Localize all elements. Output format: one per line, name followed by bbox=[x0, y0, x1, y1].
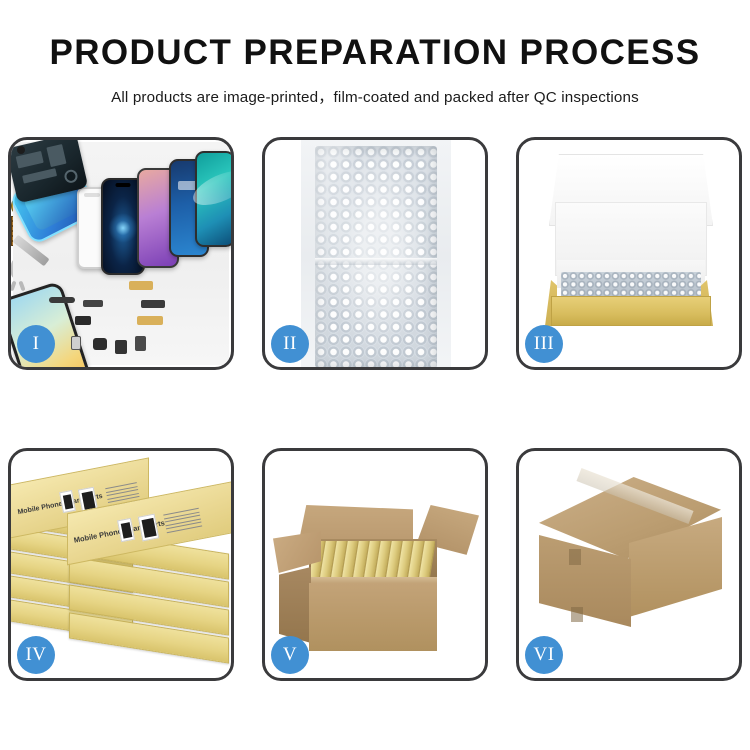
phone-teal-icon bbox=[195, 151, 231, 247]
flex-cable-3-icon bbox=[137, 316, 163, 325]
process-step-panel-4: Mobile Phone Spare Parts Mobile Phone Sp… bbox=[8, 448, 234, 681]
small-part-6-icon bbox=[83, 300, 103, 307]
small-part-2-icon bbox=[71, 336, 81, 350]
page-subtitle: All products are image-printed，film-coat… bbox=[0, 85, 750, 107]
small-part-3-icon bbox=[93, 338, 107, 350]
process-step-panel-3: III bbox=[516, 137, 742, 370]
step-badge-2: II bbox=[271, 325, 309, 363]
small-part-5-icon bbox=[135, 336, 146, 351]
carton-front-panel bbox=[309, 583, 437, 651]
carton-handle-top bbox=[569, 549, 581, 565]
battery-strip-icon bbox=[49, 297, 75, 303]
bubble-pattern-icon bbox=[315, 146, 437, 367]
header: PRODUCT PREPARATION PROCESS All products… bbox=[0, 0, 750, 107]
process-step-grid: I II III bbox=[8, 137, 742, 681]
step-badge-5: V bbox=[271, 636, 309, 674]
step-badge-1: I bbox=[17, 325, 55, 363]
flex-cable-2-icon bbox=[141, 300, 165, 308]
process-step-panel-5: V bbox=[262, 448, 488, 681]
page-title: PRODUCT PREPARATION PROCESS bbox=[0, 34, 750, 73]
flex-cable-1-icon bbox=[129, 281, 153, 290]
process-step-panel-2: II bbox=[262, 137, 488, 370]
carton-handle-bottom bbox=[571, 607, 583, 622]
carton-side-panel bbox=[279, 567, 311, 643]
process-step-panel-6: VI bbox=[516, 448, 742, 681]
process-step-panel-1: I bbox=[8, 137, 234, 370]
small-part-1-icon bbox=[75, 316, 91, 325]
wrap-seam bbox=[315, 258, 437, 265]
product-preparation-infographic: PRODUCT PREPARATION PROCESS All products… bbox=[0, 0, 750, 750]
step-badge-6: VI bbox=[525, 636, 563, 674]
step-badge-4: IV bbox=[17, 636, 55, 674]
box-front-panel bbox=[551, 296, 711, 326]
small-part-4-icon bbox=[115, 340, 127, 354]
step-badge-3: III bbox=[525, 325, 563, 363]
